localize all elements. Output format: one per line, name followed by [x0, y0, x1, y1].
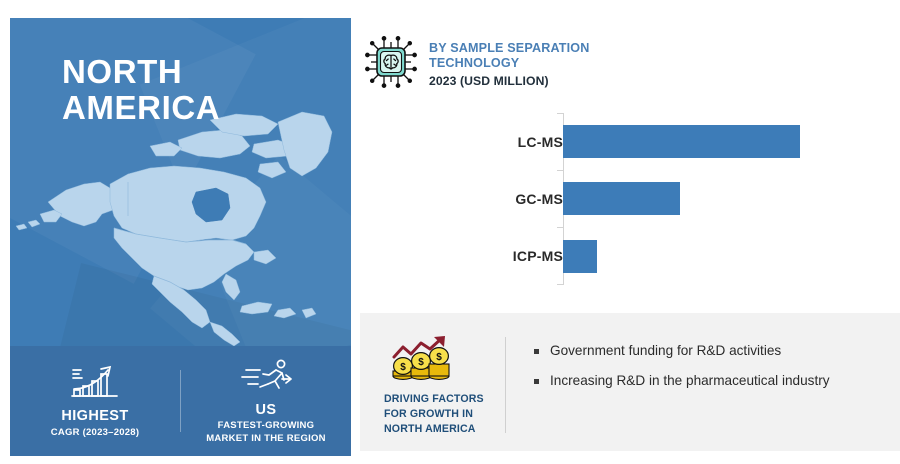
factor-text: Government funding for R&D activities — [550, 341, 781, 360]
driving-factors-list: Government funding for R&D activities In… — [506, 313, 830, 401]
caption-line3: NORTH AMERICA — [384, 422, 505, 437]
list-item: Government funding for R&D activities — [534, 341, 830, 360]
stat-subline-1: FASTEST-GROWING — [218, 420, 315, 432]
region-panel: NORTH AMERICA — [10, 18, 351, 456]
stat-subline-2: MARKET IN THE REGION — [206, 433, 326, 445]
driving-factors-panel: $ $ $ DRIVING FACTORS — [360, 313, 900, 451]
square-bullet-icon — [534, 379, 539, 384]
bar-chart: LC-MS GC-MS ICP-MS — [480, 113, 880, 285]
chart-heading-main: BY SAMPLE SEPARATION TECHNOLOGY — [429, 41, 589, 72]
stat-card-us-fastest-growing: US FASTEST-GROWING MARKET IN THE REGION — [181, 357, 351, 445]
caption-line2: FOR GROWTH IN — [384, 407, 505, 422]
bar-lc-ms — [563, 125, 800, 158]
bar-track — [563, 113, 880, 170]
stat-subline: CAGR (2023–2028) — [51, 427, 140, 439]
svg-text:$: $ — [400, 362, 406, 373]
chart-heading-line1: BY SAMPLE SEPARATION — [429, 41, 589, 56]
driving-factors-caption: DRIVING FACTORS FOR GROWTH IN NORTH AMER… — [384, 392, 505, 437]
bar-label: LC-MS — [443, 134, 563, 150]
bar-label: ICP-MS — [443, 248, 563, 264]
bar-track — [563, 228, 880, 285]
region-title-line2: AMERICA — [62, 90, 220, 126]
bar-row: GC-MS — [480, 170, 880, 227]
growth-bar-chart-arrow-icon — [67, 363, 123, 401]
chart-header: BY SAMPLE SEPARATION TECHNOLOGY 2023 (US… — [365, 36, 589, 88]
square-bullet-icon — [534, 349, 539, 354]
factor-text: Increasing R&D in the pharmaceutical ind… — [550, 371, 830, 390]
region-stat-strip: HIGHEST CAGR (2023–2028) — [10, 346, 351, 456]
list-item: Increasing R&D in the pharmaceutical ind… — [534, 371, 830, 390]
caption-line1: DRIVING FACTORS — [384, 392, 505, 407]
bar-label: GC-MS — [443, 191, 563, 207]
chart-subheading: 2023 (USD MILLION) — [429, 74, 589, 88]
region-title: NORTH AMERICA — [62, 54, 220, 125]
driving-factors-caption-block: $ $ $ DRIVING FACTORS — [360, 313, 505, 437]
region-title-line1: NORTH — [62, 54, 220, 90]
north-america-map-icon — [10, 110, 351, 350]
microchip-brain-icon — [365, 36, 417, 88]
coins-growth-arrow-icon: $ $ $ — [390, 335, 452, 383]
bar-icp-ms — [563, 240, 597, 273]
chart-heading: BY SAMPLE SEPARATION TECHNOLOGY 2023 (US… — [429, 36, 589, 88]
bar-track — [563, 170, 880, 227]
stat-headline: HIGHEST — [61, 408, 128, 425]
svg-text:$: $ — [418, 357, 424, 368]
stat-card-highest-cagr: HIGHEST CAGR (2023–2028) — [10, 363, 180, 439]
svg-text:$: $ — [436, 352, 442, 363]
chart-heading-line2: TECHNOLOGY — [429, 56, 589, 71]
bar-gc-ms — [563, 182, 680, 215]
chart-area: BY SAMPLE SEPARATION TECHNOLOGY 2023 (US… — [360, 18, 890, 313]
bar-row: ICP-MS — [480, 228, 880, 285]
running-person-speed-icon — [238, 357, 294, 395]
stat-headline: US — [256, 402, 277, 419]
bar-row: LC-MS — [480, 113, 880, 170]
